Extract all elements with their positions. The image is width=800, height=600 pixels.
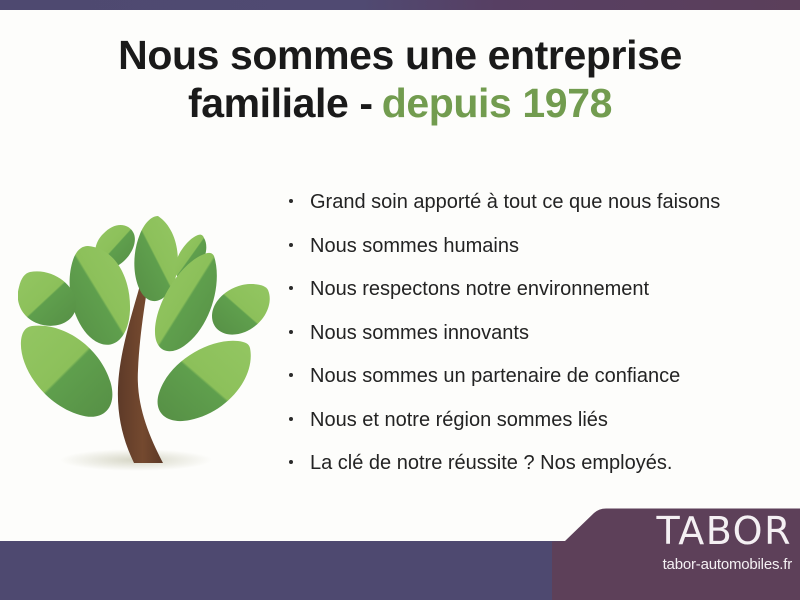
value-list: Grand soin apporté à tout ce que nous fa… [286, 190, 786, 475]
tree-leaf-group [18, 216, 270, 421]
bullet-dot-icon [289, 417, 293, 421]
title-line-1-text: Nous sommes une entreprise [118, 32, 682, 78]
title-line-1: Nous sommes une entreprise [0, 32, 800, 80]
list-item-label: Nous sommes un partenaire de confiance [310, 365, 680, 387]
list-item-label: Nous sommes humains [310, 235, 519, 257]
bullet-dot-icon [289, 330, 293, 334]
list-item-label: Nous et notre région sommes liés [310, 409, 608, 431]
list-item: La clé de notre réussite ? Nos employés. [286, 451, 786, 475]
title-line-2: familiale -depuis 1978 [0, 80, 800, 128]
title-line-2-black-text: familiale - [188, 80, 373, 126]
list-item: Nous sommes innovants [286, 321, 786, 345]
list-item: Nous respectons notre environnement [286, 277, 786, 301]
list-item-label: La clé de notre réussite ? Nos employés. [310, 452, 672, 474]
bullet-dot-icon [289, 243, 293, 247]
list-item: Nous sommes humains [286, 234, 786, 258]
bullet-dot-icon [289, 286, 293, 290]
bullet-dot-icon [289, 199, 293, 203]
list-item: Nous et notre région sommes liés [286, 408, 786, 432]
tree-leaf-7 [212, 284, 270, 335]
bullet-dot-icon [289, 373, 293, 377]
logo-brand-text: TABOR [600, 512, 792, 550]
title-line-2-green-text: depuis 1978 [382, 80, 612, 126]
list-item: Nous sommes un partenaire de confiance [286, 364, 786, 388]
list-item-label: Nous sommes innovants [310, 322, 529, 344]
brand-logo: TABOR tabor-automobiles.fr [552, 508, 800, 600]
page-title: Nous sommes une entreprise familiale -de… [0, 32, 800, 127]
tree-leaf-9 [158, 341, 251, 421]
tree-leaf-5 [18, 271, 76, 325]
logo-tagline-text: tabor-automobiles.fr [600, 557, 792, 572]
list-item-label: Grand soin apporté à tout ce que nous fa… [310, 191, 720, 213]
logo-wordmark: TABOR tabor-automobiles.fr [600, 512, 800, 572]
slide-canvas: Nous sommes une entreprise familiale -de… [0, 0, 800, 600]
list-item-label: Nous respectons notre environnement [310, 278, 649, 300]
top-accent-bar [0, 0, 800, 10]
tree-illustration [18, 198, 276, 486]
list-item: Grand soin apporté à tout ce que nous fa… [286, 190, 786, 214]
bullet-dot-icon [289, 460, 293, 464]
